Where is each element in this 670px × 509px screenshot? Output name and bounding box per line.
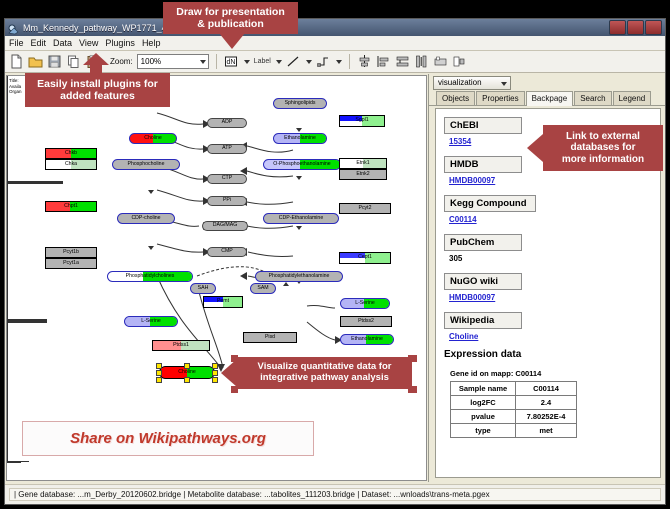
node-label: PPi	[223, 198, 231, 203]
canvas-info-organism: Organ	[9, 89, 22, 95]
expr-key: Sample name	[451, 382, 516, 396]
node-label: L-Serine	[355, 301, 375, 306]
connector-tool-icon[interactable]	[316, 54, 331, 69]
menu-item-view[interactable]: View	[79, 38, 98, 48]
align-stack-icon[interactable]	[395, 54, 410, 69]
callout-share-text: Share on Wikipathways.org	[70, 430, 266, 447]
node-choline-top[interactable]: Choline	[129, 133, 177, 144]
arrow-icon	[296, 128, 302, 132]
node-l-serine-left[interactable]: L-Serine	[124, 316, 178, 327]
node-chpt1[interactable]: Chpt1	[45, 201, 97, 212]
maximize-button[interactable]	[627, 20, 644, 35]
db-header-wikipedia: Wikipedia	[444, 312, 522, 329]
node-pemt[interactable]: Pemt	[203, 296, 243, 308]
node-label: Pisd	[265, 335, 275, 340]
arrow-icon	[148, 246, 154, 250]
node-pcyt1b[interactable]: Pcyt1b	[45, 247, 97, 258]
node-ptdss1[interactable]: Ptdss1	[152, 340, 210, 351]
db-group-pubchem: PubChem 305	[444, 232, 652, 263]
callout-plugins: Easily install plugins foradded features	[25, 73, 170, 107]
edge-cdpetn-to-pe	[7, 282, 8, 319]
node-label: Chkb	[65, 151, 77, 156]
status-bar: | Gene database: ...m_Derby_20120602.bri…	[5, 484, 665, 504]
db-header-chebi: ChEBI	[444, 117, 522, 134]
node-label: Chka	[65, 162, 77, 167]
node-phosphocholine[interactable]: Phosphocholine	[112, 159, 180, 170]
label-dropdown-icon[interactable]	[276, 60, 282, 64]
tab-search[interactable]: Search	[574, 91, 611, 105]
node-label: O-Phosphoethanolamine	[273, 162, 330, 167]
node-label: CDP-choline	[131, 216, 160, 221]
edge-pemt-stem	[7, 323, 8, 341]
expression-table: Sample name C00114 log2FC 2.4 pvalue 7.8…	[450, 381, 577, 438]
visualization-value: visualization	[438, 78, 482, 87]
visualization-row: visualization	[429, 74, 665, 91]
tab-strip: Objects Properties Backpage Search Legen…	[429, 91, 665, 106]
expr-value: C00114	[516, 382, 577, 396]
node-label: CTP	[222, 176, 232, 181]
db-link-nugo-wiki[interactable]: HMDB00097	[449, 293, 652, 302]
node-label: Etnk1	[356, 161, 369, 166]
edge-sphingolipids-to-ethanolamine	[7, 184, 8, 211]
callout-draw: Draw for presentation& publication	[163, 2, 298, 34]
edge-cdpcholine-to-pc	[7, 144, 8, 181]
node-label: Ethanolamine	[351, 337, 383, 342]
callout-draw-arrow-icon	[219, 33, 245, 49]
node-label: Choline	[144, 136, 162, 141]
line-tool-icon[interactable]	[286, 54, 301, 69]
node-label: Pcyt2	[359, 206, 372, 211]
edge-cept1-to-reaction	[7, 322, 47, 323]
callout-links-text: Link to externaldatabases formore inform…	[556, 129, 650, 168]
tab-properties[interactable]: Properties	[476, 91, 524, 105]
db-header-kegg-compound: Kegg Compound	[444, 195, 536, 212]
toolbar-separator-2	[349, 54, 350, 69]
window-buttons	[609, 20, 662, 35]
node-cdp-ethanolamine[interactable]: CDP-Ethanolamine	[263, 213, 339, 224]
menu-item-file[interactable]: File	[9, 38, 24, 48]
node-pcyt2[interactable]: Pcyt2	[339, 203, 391, 214]
node-cmp[interactable]: CMP	[207, 247, 247, 257]
node-ctp[interactable]: CTP	[207, 174, 247, 184]
callout-plugins-text: Easily install plugins foradded features	[31, 76, 164, 104]
arrow-icon	[283, 282, 289, 286]
table-row: pvalue 7.80252E-4	[451, 410, 577, 424]
db-link-kegg-compound[interactable]: C00114	[449, 215, 652, 224]
datanode-icon[interactable]: dN	[224, 54, 239, 69]
node-ethanolamine-right[interactable]: Ethanolamine	[340, 334, 394, 345]
selection-handle[interactable]	[212, 363, 218, 369]
selection-handle[interactable]	[212, 370, 218, 376]
node-label: Chpt1	[64, 204, 78, 209]
node-l-serine-right[interactable]: L-Serine	[340, 298, 390, 309]
edge-pisd-connect	[7, 462, 21, 463]
node-o-phosphoethanolamine[interactable]: O-Phosphoethanolamine	[263, 159, 341, 170]
arrow-icon	[240, 272, 247, 280]
expr-key: pvalue	[451, 410, 516, 424]
selection-handle[interactable]	[184, 377, 190, 383]
line-dropdown-icon[interactable]	[306, 60, 312, 64]
callout-links-arrow-icon	[527, 134, 543, 162]
menu-item-edit[interactable]: Edit	[31, 38, 47, 48]
node-label: Ptdss1	[173, 343, 189, 348]
edge-ethanolamine-to-ope	[7, 211, 8, 245]
selection-handle[interactable]	[212, 377, 218, 383]
selection-handle[interactable]	[156, 370, 162, 376]
edge-choline-to-phosphocholine	[7, 76, 8, 110]
node-label: Phosphocholine	[128, 162, 165, 167]
node-label: Pcyt1a	[63, 261, 79, 266]
table-row: log2FC 2.4	[451, 396, 577, 410]
node-adp[interactable]: ADP	[207, 118, 247, 128]
node-pisd[interactable]: Pisd	[243, 332, 297, 343]
svg-text:dN: dN	[226, 59, 235, 66]
screenshot-root: Mm_Kennedy_pathway_WP1771_45176.gpml Fil…	[0, 0, 670, 509]
db-group-wikipedia: Wikipedia Choline	[444, 310, 652, 341]
node-pcyt1a[interactable]: Pcyt1a	[45, 258, 97, 269]
arrow-icon	[296, 176, 302, 180]
node-label: DAG/MAG	[213, 223, 238, 228]
node-sah[interactable]: SAH	[190, 283, 216, 294]
save-icon[interactable]	[47, 54, 62, 69]
selection-handle[interactable]	[156, 363, 162, 369]
callout-visualize: Visualize quantitative data forintegrati…	[237, 357, 412, 389]
edge-ope-to-cdpetn	[7, 245, 8, 282]
open-folder-icon[interactable]	[28, 54, 43, 69]
align-columns-icon[interactable]	[414, 54, 429, 69]
node-label: Ethanolamine	[284, 136, 316, 141]
node-ptdss2[interactable]: Ptdss2	[340, 316, 392, 327]
node-label: Cept1	[358, 255, 372, 260]
expr-value: met	[516, 424, 577, 438]
db-value-pubchem: 305	[449, 254, 652, 263]
node-label: Phosphatidylcholines	[126, 274, 175, 279]
callout-share: Share on Wikipathways.org	[22, 421, 314, 456]
callout-plugins-arrow-icon	[83, 53, 109, 75]
chevron-down-icon	[200, 60, 206, 64]
expression-data-header: Expression data	[444, 349, 652, 360]
node-chka[interactable]: Chka	[45, 159, 97, 170]
align-center-icon[interactable]	[357, 54, 372, 69]
node-cept1[interactable]: Cept1	[339, 252, 391, 264]
node-etnk2[interactable]: Etnk2	[339, 169, 387, 180]
node-label: SAH	[198, 286, 209, 291]
node-ppi[interactable]: PPi	[207, 196, 247, 206]
chevron-down-icon	[501, 82, 507, 86]
align-left-icon[interactable]	[376, 54, 391, 69]
minimize-button[interactable]	[609, 20, 626, 35]
order-icon[interactable]	[452, 54, 467, 69]
node-label: Pcyt1b	[63, 250, 79, 255]
expr-value: 7.80252E-4	[516, 410, 577, 424]
arrow-icon	[148, 190, 154, 194]
tab-legend[interactable]: Legend	[613, 91, 652, 105]
node-phosphatidylethanolamine[interactable]: Phosphatidylethanolamine	[255, 271, 343, 282]
node-label: Sphingolipids	[285, 101, 316, 106]
node-etnk1[interactable]: Etnk1	[339, 158, 387, 169]
node-sphingolipids[interactable]: Sphingolipids	[273, 98, 327, 109]
datanode-dropdown-icon[interactable]	[244, 60, 250, 64]
node-label: Ptdss2	[358, 319, 374, 324]
node-sgpl1[interactable]: Sgpl1	[339, 115, 385, 127]
db-header-hmdb: HMDB	[444, 156, 522, 173]
db-group-nugo: NuGO wiki HMDB00097	[444, 271, 652, 302]
node-chkb[interactable]: Chkb	[45, 148, 97, 159]
zoom-value: 100%	[141, 57, 161, 66]
db-link-hmdb[interactable]: HMDB00097	[449, 176, 652, 185]
tab-objects[interactable]: Objects	[436, 91, 475, 105]
node-ethanolamine-top[interactable]: Ethanolamine	[273, 133, 327, 144]
toolbar-separator	[216, 54, 217, 69]
callout-links: Link to externaldatabases formore inform…	[543, 125, 663, 171]
menu-bar: File Edit Data View Plugins Help	[5, 36, 665, 51]
status-text: | Gene database: ...m_Derby_20120602.bri…	[9, 488, 661, 501]
expr-key: log2FC	[451, 396, 516, 410]
edge-phosphocholine-to-cdpcholine	[7, 110, 8, 144]
table-row: type met	[451, 424, 577, 438]
node-label: Choline	[178, 370, 196, 375]
selection-handle[interactable]	[156, 377, 162, 383]
gene-id-on-mapp: Gene id on mapp: C00114	[450, 369, 652, 378]
copy-icon[interactable]	[66, 54, 81, 69]
db-header-pubchem: PubChem	[444, 234, 522, 251]
zoom-combo[interactable]: 100%	[137, 54, 209, 69]
menu-item-data[interactable]: Data	[53, 38, 72, 48]
edge-pisd-stem	[7, 341, 8, 401]
arrow-icon	[296, 226, 302, 230]
node-label: CDP-Ethanolamine	[279, 216, 323, 221]
close-button[interactable]	[645, 20, 662, 35]
callout-draw-text: Draw for presentation& publication	[170, 4, 291, 32]
expr-key: type	[451, 424, 516, 438]
visualization-combo[interactable]: visualization	[433, 76, 511, 90]
node-label: CMP	[221, 249, 233, 254]
new-file-icon[interactable]	[9, 54, 24, 69]
connector-dropdown-icon[interactable]	[336, 60, 342, 64]
app-icon	[8, 22, 19, 33]
title-bar: Mm_Kennedy_pathway_WP1771_45176.gpml	[5, 19, 665, 36]
node-cdp-choline[interactable]: CDP-choline	[117, 213, 175, 224]
tab-backpage[interactable]: Backpage	[526, 91, 574, 106]
node-label: Pemt	[217, 299, 229, 304]
node-label: Phosphatidylethanolamine	[269, 274, 330, 279]
group-icon[interactable]	[433, 54, 448, 69]
node-label: ADP	[222, 120, 233, 125]
db-group-kegg: Kegg Compound C00114	[444, 193, 652, 224]
edge-pcyt1-to-reaction	[7, 183, 63, 184]
node-dagmag[interactable]: DAG/MAG	[202, 221, 248, 231]
menu-item-plugins[interactable]: Plugins	[105, 38, 135, 48]
node-atp[interactable]: ATP	[207, 144, 247, 154]
node-label: Sgpl1	[355, 118, 368, 123]
node-sam[interactable]: SAM	[250, 283, 276, 294]
node-label: ATP	[222, 146, 232, 151]
table-row: Sample name C00114	[451, 382, 577, 396]
node-label: SAM	[257, 286, 268, 291]
zoom-label: Zoom:	[110, 57, 133, 66]
db-link-wikipedia[interactable]: Choline	[449, 332, 652, 341]
expr-value: 2.4	[516, 396, 577, 410]
edge-pisd-stem-2	[7, 401, 8, 461]
callout-visualize-text: Visualize quantitative data forintegrati…	[252, 360, 398, 386]
node-label: Etnk2	[356, 172, 369, 177]
canvas-info-block: Title: Availa Organ	[9, 78, 22, 95]
label-tool-label[interactable]: Label	[254, 58, 271, 65]
db-header-nugo-wiki: NuGO wiki	[444, 273, 522, 290]
menu-item-help[interactable]: Help	[142, 38, 161, 48]
node-phosphatidylcholines[interactable]: Phosphatidylcholines	[107, 271, 193, 282]
callout-visualize-arrow-icon	[221, 359, 237, 387]
node-label: L-Serine	[141, 319, 161, 324]
